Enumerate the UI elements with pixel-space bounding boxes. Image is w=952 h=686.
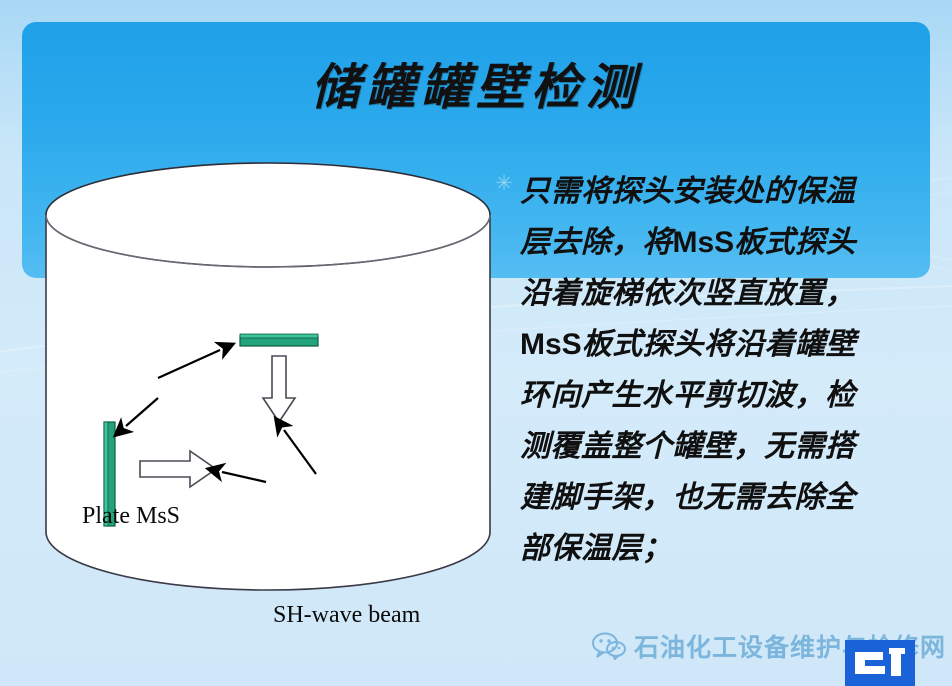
content-text-block: ✳ 只需将探头安装处的保温 层去除，将MsS板式探头 沿着旋梯依次竖直放置， M… [492,166,944,574]
tank-diagram: Plate MsS SH-wave beam [18,150,518,620]
paragraph-line-7: 建脚手架，也无需去除全 [520,481,856,514]
bullet-item: ✳ 只需将探头安装处的保温 层去除，将MsS板式探头 沿着旋梯依次竖直放置， M… [492,166,944,574]
paragraph-line-3: 沿着旋梯依次竖直放置， [520,277,856,310]
horizontal-plate-mss-sensor [240,334,318,346]
paragraph-line-5: 环向产生水平剪切波，检 [520,379,856,412]
page-title: 储罐罐壁检测 [0,48,952,119]
paragraph-line-8: 部保温层； [520,532,673,565]
wechat-icon [592,632,626,660]
label-plate-mss: Plate MsS [82,503,180,530]
paragraph-line-2-b: 板式探头 [734,226,856,259]
site-logo [845,640,915,686]
tank-top-ellipse [46,163,490,267]
label-sh-wave-beam: SH-wave beam [273,602,420,629]
paragraph-line-4-latin: MsS [520,328,582,361]
site-logo-glyph [845,640,915,686]
slide-canvas: 储罐罐壁检测 ✳ 只需将探头安装处的保温 层去除，将MsS板式探头 沿着旋梯依次… [0,0,952,686]
paragraph-line-2-latin: MsS [673,226,735,259]
paragraph-text: 只需将探头安装处的保温 层去除，将MsS板式探头 沿着旋梯依次竖直放置， MsS… [492,166,944,574]
paragraph-line-1: 只需将探头安装处的保温 [520,175,856,208]
paragraph-line-4-b: 板式探头将沿着罐壁 [582,328,857,361]
paragraph-line-2-a: 层去除，将 [520,226,673,259]
tank-diagram-svg [18,150,518,620]
paragraph-line-6: 测覆盖整个罐壁，无需搭 [520,430,856,463]
